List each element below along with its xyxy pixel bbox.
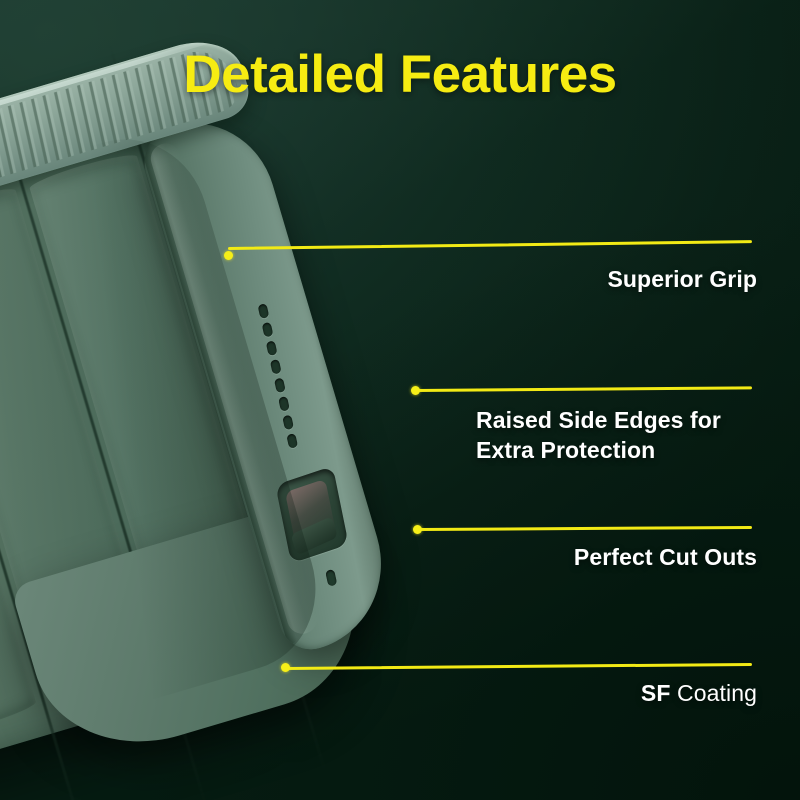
callout-label-perfect-cut-outs: Perfect Cut Outs <box>574 542 757 572</box>
callout-label-raised-side-edges: Raised Side Edges for Extra Protection <box>476 405 721 466</box>
page-title: Detailed Features <box>0 48 800 101</box>
grille-hole <box>266 340 278 356</box>
grille-hole <box>286 433 298 449</box>
grille-hole <box>262 322 274 338</box>
leader-dot <box>411 386 420 395</box>
infographic-canvas: Detailed Features Superior Grip Raised S… <box>0 0 800 800</box>
grille-hole <box>278 396 290 412</box>
grille-hole <box>274 378 286 394</box>
sf-coating-bold-prefix: SF <box>641 680 671 706</box>
callout-label-sf-coating: SF Coating <box>641 678 757 708</box>
grille-hole <box>258 303 270 319</box>
speaker-grille <box>256 302 304 452</box>
leader-dot <box>281 663 290 672</box>
grille-hole <box>270 359 282 375</box>
callout-label-line: Raised Side Edges for <box>476 405 721 435</box>
product-image-phone-case <box>0 70 430 800</box>
grille-hole <box>282 415 294 431</box>
leader-dot <box>224 251 233 260</box>
callout-label-superior-grip: Superior Grip <box>607 264 757 294</box>
sf-coating-regular-suffix: Coating <box>677 680 757 706</box>
leader-dot <box>413 525 422 534</box>
callout-label-line: Extra Protection <box>476 435 721 465</box>
microphone-hole <box>325 569 337 587</box>
